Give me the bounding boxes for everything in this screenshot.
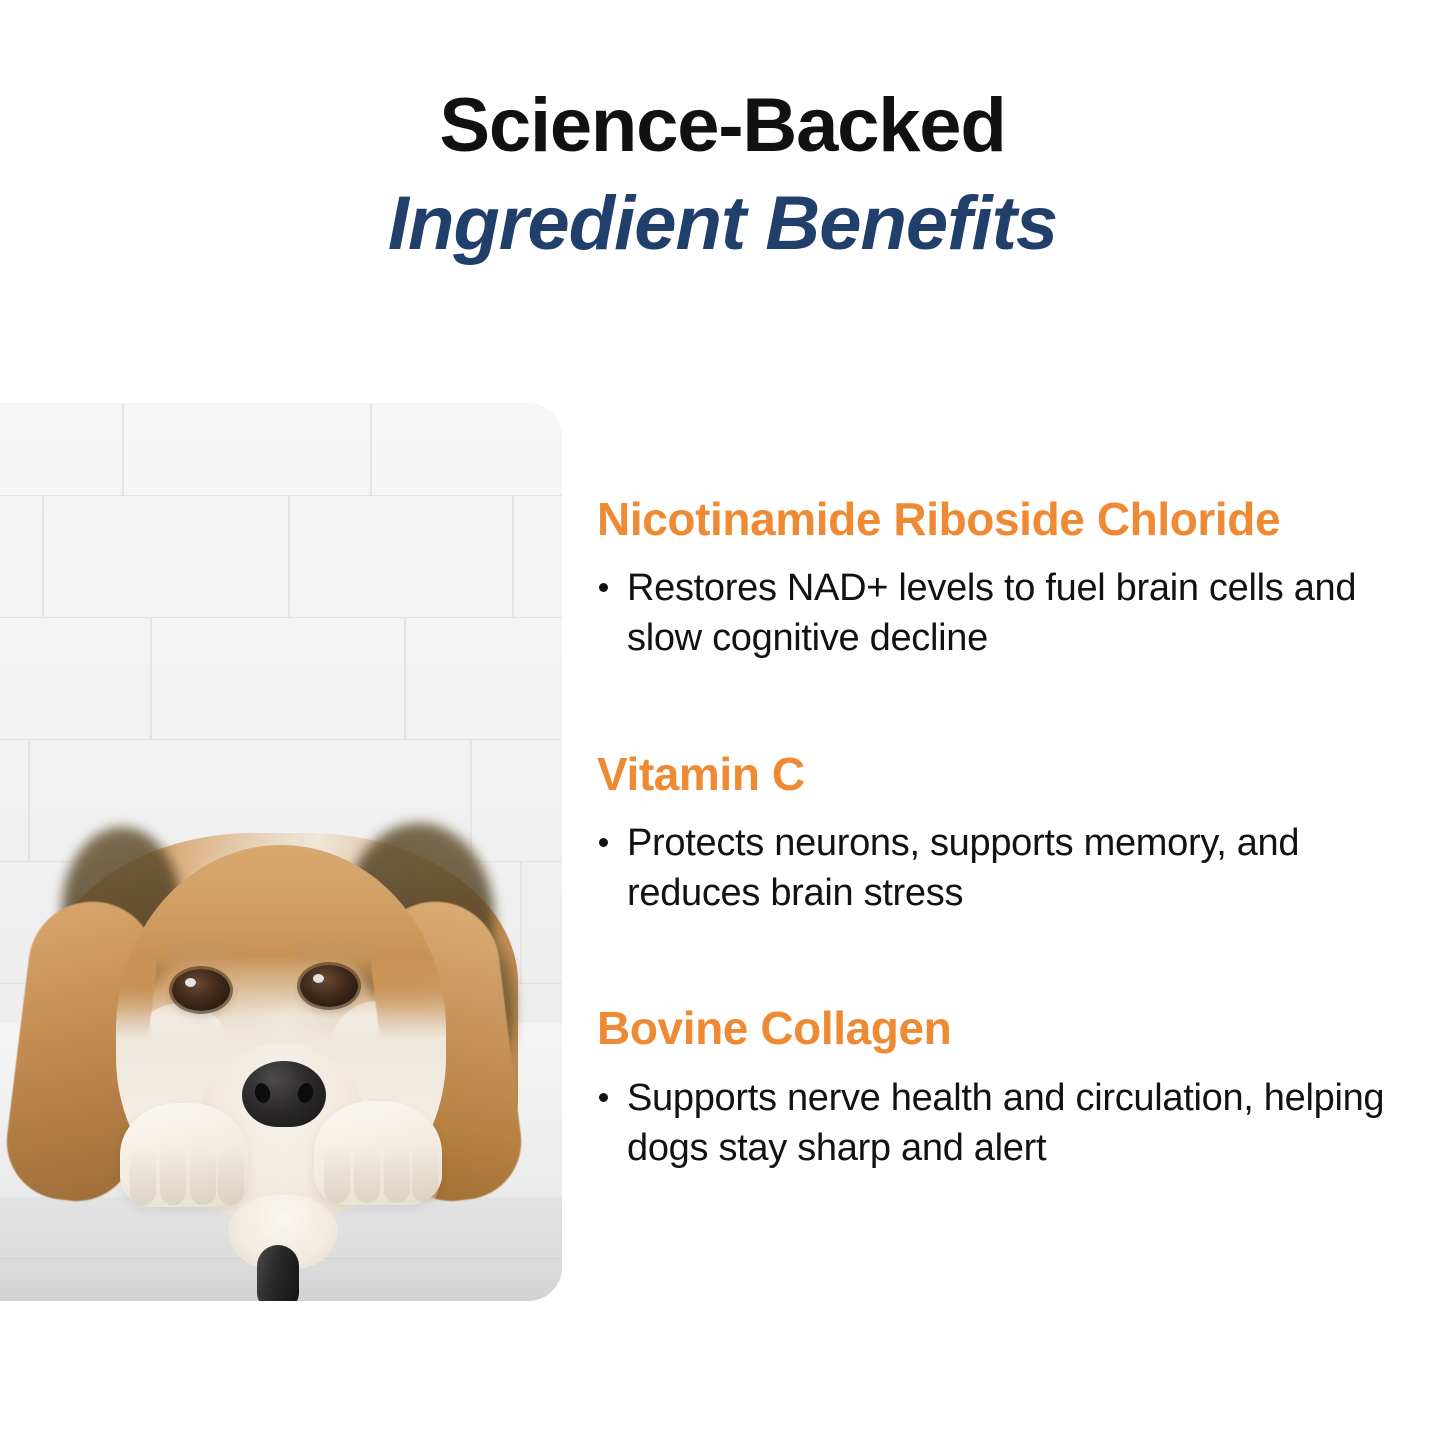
benefit-block-vitamin-c: Vitamin C Protects neurons, supports mem… [597, 750, 1387, 919]
benefit-title: Bovine Collagen [597, 1004, 1387, 1052]
bullet-icon [599, 1093, 608, 1102]
dog-nose [242, 1061, 326, 1127]
page-title-line-2: Ingredient Benefits [0, 186, 1445, 262]
product-photo-image: Pavie NMN & NAD+ Drops Advanced Brain Fo… [0, 403, 562, 1301]
benefit-point: Protects neurons, supports memory, and r… [597, 818, 1387, 918]
dog-brow-left [164, 943, 238, 969]
product-photo-panel: Pavie NMN & NAD+ Drops Advanced Brain Fo… [0, 403, 562, 1301]
benefit-point: Supports nerve health and circulation, h… [597, 1073, 1387, 1173]
dropper-bulb [257, 1245, 299, 1301]
benefit-title: Vitamin C [597, 750, 1387, 798]
benefit-points: Restores NAD+ levels to fuel brain cells… [597, 563, 1387, 663]
benefit-point-text: Protects neurons, supports memory, and r… [627, 822, 1299, 914]
dog-paw-left [120, 1103, 248, 1207]
benefit-point: Restores NAD+ levels to fuel brain cells… [597, 563, 1387, 663]
dog-brow-right [294, 939, 368, 965]
dog-paw-right [314, 1101, 442, 1205]
benefit-point-text: Restores NAD+ levels to fuel brain cells… [627, 567, 1356, 659]
page-title-line-1: Science-Backed [0, 88, 1445, 164]
benefit-points: Protects neurons, supports memory, and r… [597, 818, 1387, 918]
bullet-icon [599, 838, 608, 847]
benefit-points: Supports nerve health and circulation, h… [597, 1073, 1387, 1173]
beagle-dog [0, 403, 562, 1301]
bullet-icon [599, 583, 608, 592]
benefit-block-bovine-collagen: Bovine Collagen Supports nerve health an… [597, 1004, 1387, 1173]
dog-eye-left [172, 969, 230, 1011]
benefit-title: Nicotinamide Riboside Chloride [597, 495, 1387, 543]
benefit-point-text: Supports nerve health and circulation, h… [627, 1077, 1384, 1169]
dog-eye-right [300, 965, 358, 1007]
ingredient-benefits-list: Nicotinamide Riboside Chloride Restores … [597, 495, 1387, 1173]
page-header: Science-Backed Ingredient Benefits [0, 0, 1445, 262]
benefit-block-nicotinamide-riboside-chloride: Nicotinamide Riboside Chloride Restores … [597, 495, 1387, 664]
